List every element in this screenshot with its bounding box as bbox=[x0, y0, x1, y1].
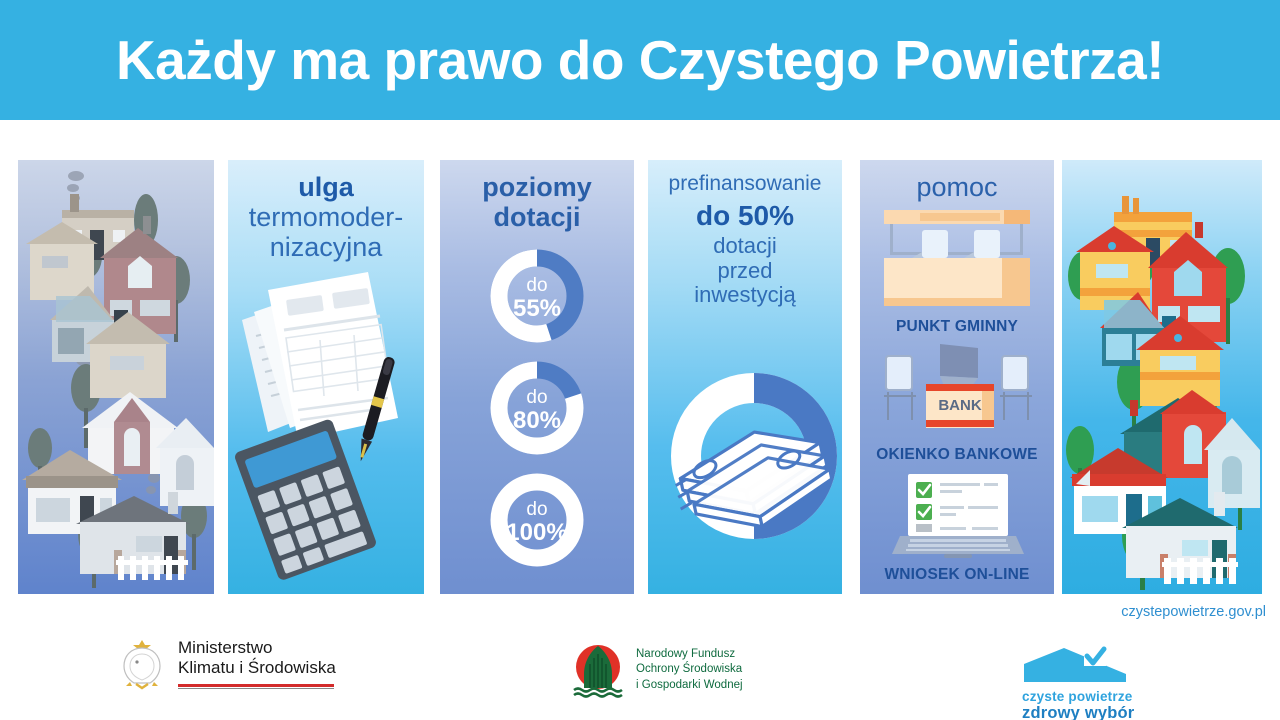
panel-prefinansowanie-heading: prefinansowanie do 50% dotacji przed inw… bbox=[648, 160, 842, 308]
panel-ulga-heading: ulga termomoder- nizacyjna bbox=[228, 160, 424, 263]
footer: czystepowietrze.gov.pl Ministerstwo Klim… bbox=[0, 594, 1280, 720]
bank-sign-text: BANK bbox=[938, 397, 981, 414]
donut-chart-55 bbox=[487, 246, 587, 346]
cp-line-1: czyste powietrze bbox=[1022, 689, 1138, 704]
polish-eagle-emblem bbox=[118, 636, 166, 692]
logo-ministry: Ministerstwo Klimatu i Środowiska bbox=[118, 636, 336, 692]
pref-line-3: dotacji bbox=[648, 234, 842, 259]
bank-counter-icon: BANK bbox=[882, 342, 1032, 438]
caption-wniosek-online: WNIOSEK ON-LINE bbox=[860, 566, 1054, 584]
panel-ulga-termomodernizacyjna: ulga termomoder- nizacyjna bbox=[228, 160, 424, 594]
pref-line-5: inwestycją bbox=[648, 283, 842, 308]
panel-clean-village bbox=[1062, 160, 1262, 594]
nfosigw-text-block: Narodowy Fundusz Ochrony Środowiska i Go… bbox=[636, 647, 743, 694]
panel-poziomy-heading: poziomy dotacji bbox=[440, 160, 634, 232]
prefinansowanie-money-donut bbox=[664, 356, 842, 556]
ministry-line-2: Klimatu i Środowiska bbox=[178, 658, 336, 678]
pref-line-4: przed bbox=[648, 259, 842, 284]
clean-village-illustration bbox=[1062, 160, 1262, 594]
nfosigw-tree-emblem bbox=[570, 642, 626, 698]
panels-row: ulga termomoder- nizacyjna poziomy dotac… bbox=[0, 160, 1280, 594]
donut-chart-100 bbox=[487, 470, 587, 570]
poziomy-line-1: poziomy bbox=[440, 172, 634, 202]
pomoc-title: pomoc bbox=[860, 172, 1054, 202]
nfos-line-1: Narodowy Fundusz bbox=[636, 647, 743, 663]
panel-pomoc: pomoc PUNKT GMINNY bbox=[860, 160, 1054, 594]
infographic-root: Każdy ma prawo do Czystego Powietrza! bbox=[0, 0, 1280, 720]
caption-okienko-bankowe: OKIENKO BANKOWE bbox=[860, 446, 1054, 464]
page-title: Każdy ma prawo do Czystego Powietrza! bbox=[116, 28, 1164, 92]
house-check-icon bbox=[1022, 642, 1138, 684]
pref-line-1: prefinansowanie bbox=[648, 172, 842, 196]
ulga-line-2: termomoder- bbox=[228, 202, 424, 232]
logo-czyste-powietrze: czyste powietrze zdrowy wybór bbox=[1022, 642, 1138, 720]
ministry-red-rule bbox=[178, 684, 334, 687]
ulga-line-3: nizacyjna bbox=[228, 232, 424, 262]
ministry-text-block: Ministerstwo Klimatu i Środowiska bbox=[178, 636, 336, 689]
cp-line-2: zdrowy wybór bbox=[1022, 704, 1138, 720]
ministry-line-1: Ministerstwo bbox=[178, 638, 336, 658]
donut-chart-80 bbox=[487, 358, 587, 458]
website-url[interactable]: czystepowietrze.gov.pl bbox=[1121, 604, 1266, 620]
pref-line-2: do 50% bbox=[648, 200, 842, 231]
laptop-form-icon bbox=[890, 472, 1026, 560]
nfos-line-2: Ochrony Środowiska bbox=[636, 662, 743, 678]
poziomy-line-2: dotacji bbox=[440, 202, 634, 232]
polluted-village-illustration bbox=[18, 160, 214, 594]
ulga-line-1: ulga bbox=[228, 172, 424, 202]
panel-prefinansowanie: prefinansowanie do 50% dotacji przed inw… bbox=[648, 160, 842, 594]
header-banner: Każdy ma prawo do Czystego Powietrza! bbox=[0, 0, 1280, 120]
panel-polluted-village bbox=[18, 160, 214, 594]
panel-poziomy-dotacji: poziomy dotacji do 55% do 80% bbox=[440, 160, 634, 594]
logo-nfosigw: Narodowy Fundusz Ochrony Środowiska i Go… bbox=[570, 642, 743, 698]
ministry-grey-rule bbox=[178, 688, 334, 689]
municipal-desk-icon bbox=[882, 208, 1032, 310]
nfos-line-3: i Gospodarki Wodnej bbox=[636, 678, 743, 694]
caption-punkt-gminny: PUNKT GMINNY bbox=[860, 318, 1054, 336]
panel-pomoc-heading: pomoc bbox=[860, 160, 1054, 202]
